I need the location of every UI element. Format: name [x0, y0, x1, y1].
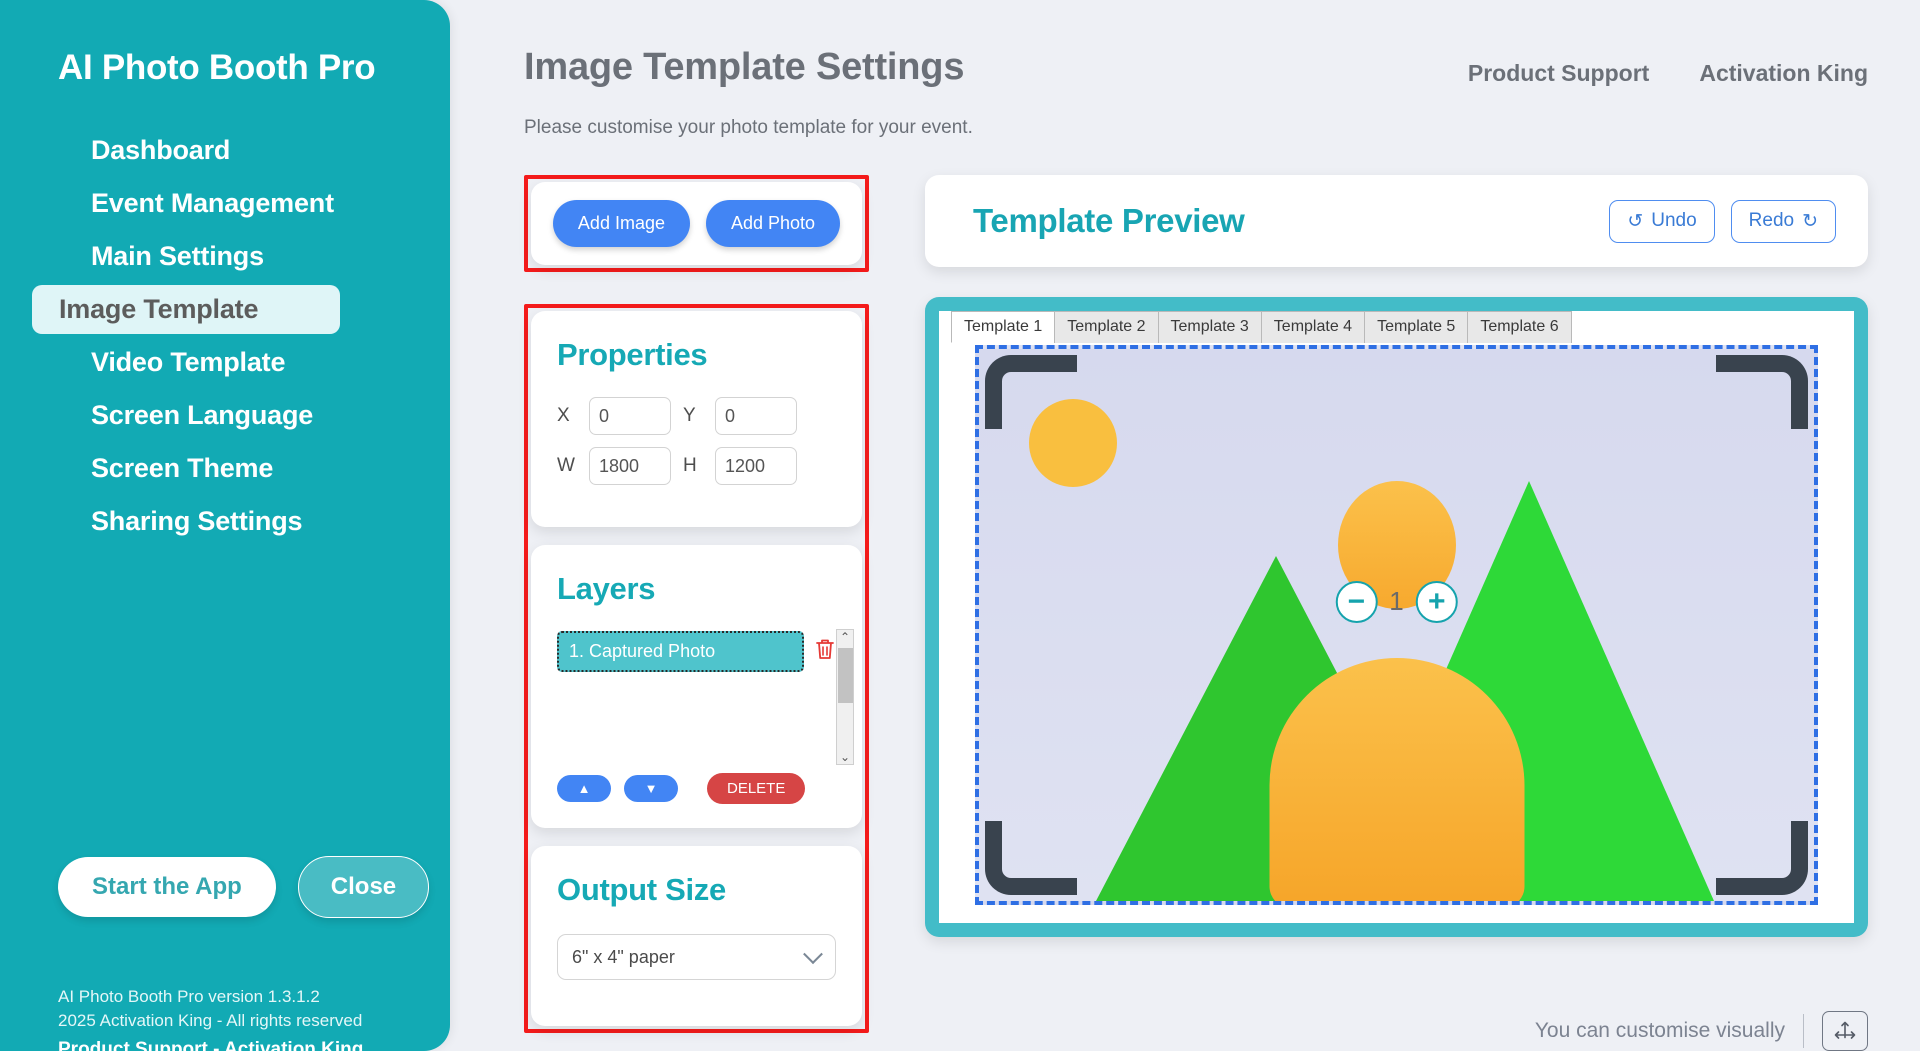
- undo-label: Undo: [1651, 210, 1696, 232]
- corner-bracket-top-right: [1716, 355, 1808, 429]
- sidebar-nav: Dashboard Event Management Main Settings…: [0, 126, 450, 546]
- w-input[interactable]: [589, 447, 671, 485]
- redo-label: Redo: [1749, 210, 1794, 232]
- canvas-inner: Template 1 Template 2 Template 3 Templat…: [939, 311, 1854, 923]
- status-divider: [1803, 1014, 1804, 1048]
- delete-layer-button[interactable]: DELETE: [707, 773, 805, 804]
- tab-template-3[interactable]: Template 3: [1158, 311, 1262, 343]
- left-panel-column: Add Image Add Photo Properties X Y: [524, 175, 869, 1033]
- status-hint-text: You can customise visually: [1535, 1019, 1785, 1043]
- h-input[interactable]: [715, 447, 797, 485]
- layer-item-captured-photo[interactable]: 1. Captured Photo: [557, 631, 804, 672]
- undo-redo-group: ↺ Undo Redo ↻: [1609, 200, 1836, 243]
- scroll-up-icon[interactable]: ⌃: [840, 630, 850, 644]
- preview-column: Template Preview ↺ Undo Redo ↻: [925, 175, 1868, 1033]
- sidebar-item-video-template[interactable]: Video Template: [32, 338, 432, 387]
- sidebar-item-event-management[interactable]: Event Management: [32, 179, 432, 228]
- tab-template-5[interactable]: Template 5: [1364, 311, 1468, 343]
- page-header-text: Image Template Settings Please customise…: [524, 46, 973, 139]
- zoom-level-value: 1: [1389, 586, 1403, 617]
- add-image-button[interactable]: Add Image: [553, 200, 690, 247]
- header-links: Product Support Activation King: [1468, 46, 1868, 87]
- sidebar: AI Photo Booth Pro Dashboard Event Manag…: [0, 0, 450, 1051]
- page-header: Image Template Settings Please customise…: [450, 0, 1920, 139]
- properties-row-position: X Y: [557, 397, 836, 435]
- scrollbar-thumb[interactable]: [838, 648, 853, 703]
- y-label: Y: [683, 405, 703, 427]
- x-input[interactable]: [589, 397, 671, 435]
- app-version-text: AI Photo Booth Pro version 1.3.1.2: [58, 985, 363, 1009]
- sidebar-item-screen-theme[interactable]: Screen Theme: [32, 444, 432, 493]
- output-size-title: Output Size: [557, 872, 836, 908]
- layer-action-buttons: ▲ ▼ DELETE: [557, 773, 836, 804]
- fit-screen-icon[interactable]: [1822, 1011, 1868, 1051]
- redo-icon: ↻: [1802, 210, 1818, 233]
- sidebar-actions: Start the App Close: [58, 856, 429, 918]
- h-label: H: [683, 455, 703, 477]
- w-label: W: [557, 455, 577, 477]
- status-bar: You can customise visually: [1535, 1011, 1868, 1051]
- sidebar-item-dashboard[interactable]: Dashboard: [32, 126, 432, 175]
- zoom-in-button[interactable]: +: [1416, 581, 1458, 623]
- trash-icon[interactable]: [814, 637, 836, 666]
- add-photo-button[interactable]: Add Photo: [706, 200, 840, 247]
- properties-fields: X Y W H: [557, 397, 836, 485]
- copyright-text: 2025 Activation King - All rights reserv…: [58, 1009, 363, 1033]
- header-link-activation-king[interactable]: Activation King: [1699, 60, 1868, 87]
- properties-title: Properties: [557, 337, 836, 373]
- corner-bracket-bottom-left: [985, 821, 1077, 895]
- tab-template-4[interactable]: Template 4: [1261, 311, 1365, 343]
- zoom-control: − 1 +: [1335, 581, 1457, 623]
- sidebar-item-main-settings[interactable]: Main Settings: [32, 232, 432, 281]
- tab-template-1[interactable]: Template 1: [951, 311, 1055, 343]
- properties-row-size: W H: [557, 447, 836, 485]
- zoom-out-button[interactable]: −: [1335, 581, 1377, 623]
- sidebar-footer-links[interactable]: Product Support - Activation King: [58, 1038, 363, 1051]
- page-subtitle: Please customise your photo template for…: [524, 117, 973, 139]
- move-layer-up-button[interactable]: ▲: [557, 775, 611, 802]
- page-title: Image Template Settings: [524, 46, 973, 89]
- redo-button[interactable]: Redo ↻: [1731, 200, 1836, 243]
- corner-bracket-top-left: [985, 355, 1077, 429]
- output-size-select[interactable]: 6" x 4" paper: [557, 934, 836, 980]
- scroll-down-icon[interactable]: ⌄: [840, 750, 850, 764]
- app-brand-title: AI Photo Booth Pro: [0, 0, 450, 88]
- layers-list: 1. Captured Photo ⌃: [557, 631, 836, 743]
- layers-panel: Layers 1. Captured Photo: [531, 545, 862, 828]
- header-link-product-support[interactable]: Product Support: [1468, 60, 1649, 87]
- move-layer-down-button[interactable]: ▼: [624, 775, 678, 802]
- preview-header: Template Preview ↺ Undo Redo ↻: [925, 175, 1868, 267]
- sidebar-item-image-template[interactable]: Image Template: [32, 285, 340, 334]
- template-tabs: Template 1 Template 2 Template 3 Templat…: [939, 311, 1854, 343]
- layers-title: Layers: [557, 571, 836, 607]
- sidebar-item-screen-language[interactable]: Screen Language: [32, 391, 432, 440]
- y-input[interactable]: [715, 397, 797, 435]
- properties-panel: Properties X Y W H: [531, 311, 862, 527]
- x-label: X: [557, 405, 577, 427]
- main-content: Image Template Settings Please customise…: [450, 0, 1920, 1051]
- app-root: AI Photo Booth Pro Dashboard Event Manag…: [0, 0, 1920, 1051]
- start-app-button[interactable]: Start the App: [58, 857, 276, 917]
- undo-button[interactable]: ↺ Undo: [1609, 200, 1714, 243]
- undo-icon: ↺: [1627, 210, 1643, 233]
- sidebar-item-sharing-settings[interactable]: Sharing Settings: [32, 497, 432, 546]
- add-panel: Add Image Add Photo: [531, 182, 862, 265]
- stage-wrap: − 1 +: [939, 343, 1854, 923]
- canvas-shell: Template 1 Template 2 Template 3 Templat…: [925, 297, 1868, 937]
- content-columns: Add Image Add Photo Properties X Y: [450, 175, 1920, 1033]
- layers-scrollbar[interactable]: ⌃ ⌄: [836, 629, 854, 765]
- output-size-select-wrap: 6" x 4" paper: [557, 934, 836, 980]
- tab-template-6[interactable]: Template 6: [1467, 311, 1571, 343]
- close-button[interactable]: Close: [298, 856, 429, 918]
- sidebar-footer: AI Photo Booth Pro version 1.3.1.2 2025 …: [58, 985, 363, 1051]
- tab-template-2[interactable]: Template 2: [1054, 311, 1158, 343]
- settings-panels-annotation: Properties X Y W H: [524, 304, 869, 1033]
- output-size-panel: Output Size 6" x 4" paper: [531, 846, 862, 1026]
- template-canvas[interactable]: − 1 +: [975, 345, 1818, 905]
- person-body-shape: [1269, 658, 1524, 905]
- preview-title: Template Preview: [973, 202, 1245, 240]
- layer-row: 1. Captured Photo: [557, 631, 836, 672]
- corner-bracket-bottom-right: [1716, 821, 1808, 895]
- add-panel-annotation: Add Image Add Photo: [524, 175, 869, 272]
